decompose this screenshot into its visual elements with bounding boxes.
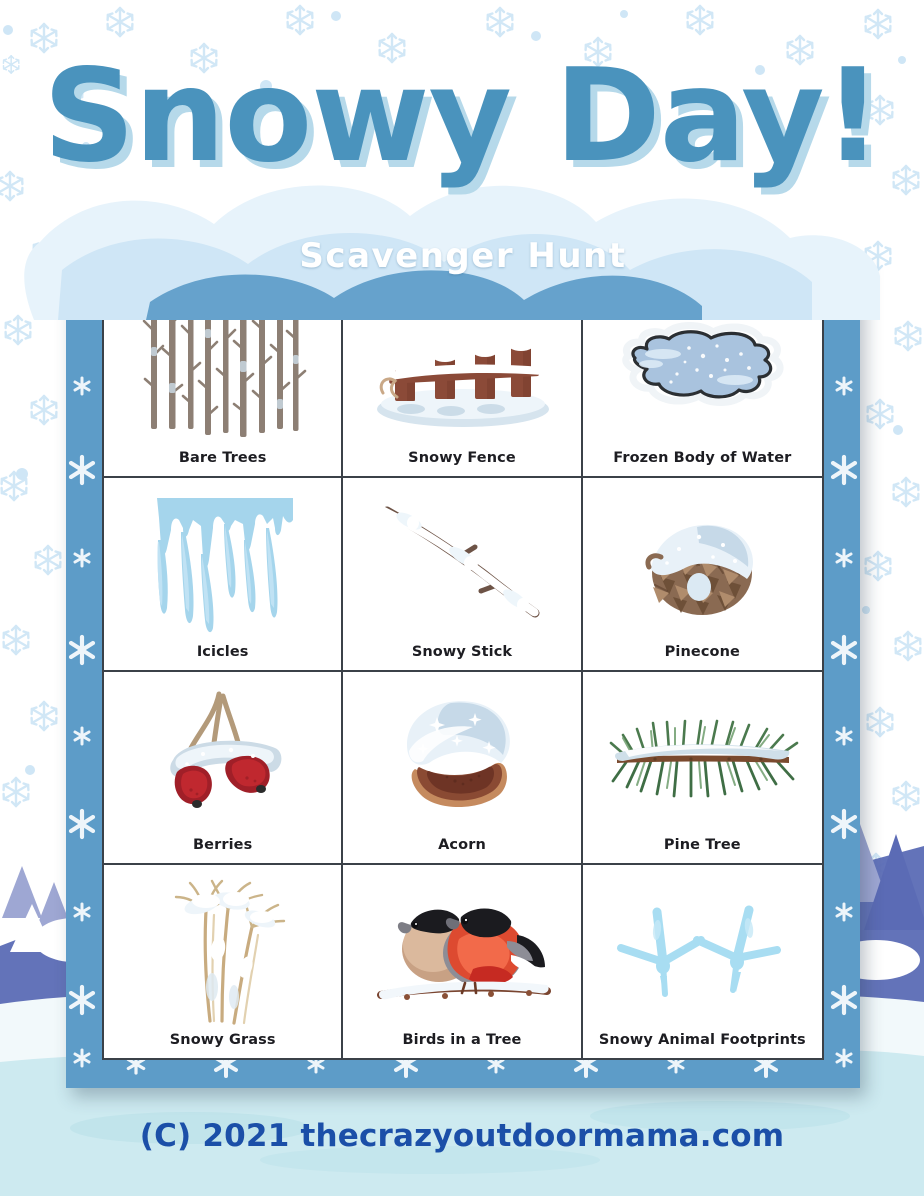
scavenger-hunt-grid: Bare Trees	[102, 283, 824, 1060]
footprints-icon	[583, 865, 822, 1032]
grid-cell-footprints[interactable]: Snowy Animal Footprints	[583, 865, 822, 1058]
page-title: Snowy Day! Snowy Day!	[0, 52, 924, 183]
cell-label: Snowy Grass	[170, 1032, 276, 1058]
grid-cell-icicles[interactable]: Icicles	[104, 478, 343, 671]
grid-cell-pine-tree[interactable]: Pine Tree	[583, 672, 822, 865]
cell-label: Snowy Fence	[408, 450, 516, 476]
cell-label: Snowy Animal Footprints	[599, 1032, 806, 1058]
grid-cell-pinecone[interactable]: Pinecone	[583, 478, 822, 671]
cell-label: Berries	[193, 837, 252, 863]
cell-label: Acorn	[438, 837, 486, 863]
footer-credit: (C) 2021 thecrazyoutdoormama.com	[0, 1118, 924, 1154]
snowy-grass-icon	[104, 865, 341, 1032]
cell-label: Birds in a Tree	[402, 1032, 521, 1058]
snowy-stick-icon	[343, 478, 580, 643]
berries-icon	[104, 672, 341, 837]
grid-cell-berries[interactable]: Berries	[104, 672, 343, 865]
pinecone-icon	[583, 478, 822, 643]
grid-cell-birds-in-tree[interactable]: Birds in a Tree	[343, 865, 582, 1058]
subtitle-banner: Scavenger Hunt	[148, 228, 778, 284]
subtitle-text: Scavenger Hunt	[299, 236, 626, 276]
cell-label: Snowy Stick	[412, 644, 512, 670]
icicles-icon	[104, 478, 341, 643]
grid-cell-snowy-stick[interactable]: Snowy Stick	[343, 478, 582, 671]
cell-label: Pine Tree	[664, 837, 741, 863]
acorn-icon	[343, 672, 580, 837]
cell-label: Icicles	[197, 644, 249, 670]
scavenger-hunt-card: Bare Trees	[66, 258, 860, 1088]
footer-text: (C) 2021 thecrazyoutdoormama.com	[140, 1118, 785, 1154]
grid-cell-snowy-grass[interactable]: Snowy Grass	[104, 865, 343, 1058]
cell-label: Bare Trees	[179, 450, 267, 476]
birds-icon	[343, 865, 580, 1032]
grid-cell-acorn[interactable]: Acorn	[343, 672, 582, 865]
page-title-text: Snowy Day!	[43, 42, 881, 191]
pine-branch-icon	[583, 672, 822, 837]
cell-label: Pinecone	[665, 644, 740, 670]
printable-page: Snowy Day! Snowy Day! Scavenger Hunt	[0, 0, 924, 1196]
cell-label: Frozen Body of Water	[613, 450, 791, 476]
